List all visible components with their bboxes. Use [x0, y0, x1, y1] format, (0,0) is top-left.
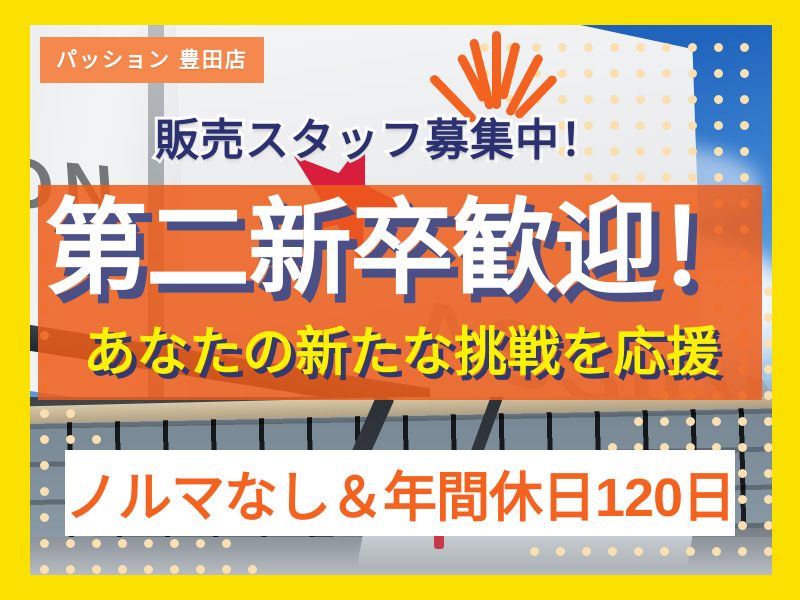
dot — [764, 287, 772, 296]
dot — [738, 469, 747, 478]
dot — [636, 69, 645, 78]
dot — [40, 539, 49, 548]
dot — [738, 521, 747, 530]
dot — [584, 173, 593, 182]
dot — [662, 147, 671, 156]
dot — [118, 539, 127, 548]
dot — [634, 547, 643, 556]
dot — [686, 547, 695, 556]
dot — [40, 565, 49, 574]
dot — [686, 417, 695, 426]
dot — [764, 521, 772, 530]
dot — [92, 565, 101, 574]
dot — [688, 147, 697, 156]
dot — [764, 547, 772, 556]
dot — [740, 43, 749, 52]
dot — [610, 121, 619, 130]
dot — [662, 43, 671, 52]
dot — [610, 43, 619, 52]
dot — [764, 313, 772, 322]
recruitment-kicker: 販売スタッフ募集中！ — [155, 104, 605, 168]
dot — [738, 443, 747, 452]
dot — [118, 565, 127, 574]
dot — [530, 547, 539, 556]
dot — [636, 147, 645, 156]
dot — [40, 461, 49, 470]
dot — [582, 547, 591, 556]
dot — [636, 95, 645, 104]
dot — [662, 173, 671, 182]
dot — [738, 495, 747, 504]
benefit-box: ノルマなし＆年間休日120日 — [65, 450, 735, 536]
dot — [92, 539, 101, 548]
dot — [662, 95, 671, 104]
dot — [688, 121, 697, 130]
dot — [764, 495, 772, 504]
dot — [688, 95, 697, 104]
dot — [740, 95, 749, 104]
dot — [144, 539, 153, 548]
dot — [170, 539, 179, 548]
dot — [738, 547, 747, 556]
dot — [66, 409, 75, 418]
dot — [738, 417, 747, 426]
dot — [196, 539, 205, 548]
dot — [662, 69, 671, 78]
dot — [740, 147, 749, 156]
dot — [610, 147, 619, 156]
dot — [764, 443, 772, 452]
shop-name-tag: パッション 豊田店 — [40, 37, 264, 83]
dot — [688, 69, 697, 78]
dot — [660, 547, 669, 556]
dot — [714, 121, 723, 130]
headline-subtitle: あなたの新たな挑戦を応援 — [44, 325, 758, 381]
dot — [688, 173, 697, 182]
dot — [66, 539, 75, 548]
dot — [688, 43, 697, 52]
dot — [740, 173, 749, 182]
dot — [714, 95, 723, 104]
dot — [636, 43, 645, 52]
dot — [714, 69, 723, 78]
dot — [248, 565, 257, 574]
dot — [608, 547, 617, 556]
dot — [714, 147, 723, 156]
dot — [764, 339, 772, 348]
dot — [636, 121, 645, 130]
benefit-text: ノルマなし＆年間休日120日 — [65, 453, 735, 532]
dot — [222, 539, 231, 548]
dot — [222, 565, 231, 574]
dot — [556, 547, 565, 556]
dot — [40, 409, 49, 418]
job-ad-poster: ION ASSION パッション 豊田店 販売スタッフ募集中！ 第二新卒歓迎！ … — [0, 0, 800, 600]
dot — [66, 435, 75, 444]
dot — [636, 173, 645, 182]
dot — [660, 417, 669, 426]
dot — [714, 173, 723, 182]
dot — [40, 487, 49, 496]
dot — [40, 435, 49, 444]
dot — [610, 69, 619, 78]
dot — [662, 121, 671, 130]
dot — [610, 173, 619, 182]
dot — [196, 565, 205, 574]
dot — [144, 565, 153, 574]
main-headline: 第二新卒歓迎！ — [44, 196, 758, 302]
dot — [40, 513, 49, 522]
dot — [712, 417, 721, 426]
dot — [764, 417, 772, 426]
dot — [764, 469, 772, 478]
dot — [712, 547, 721, 556]
dot — [92, 435, 101, 444]
dot — [170, 565, 179, 574]
dot — [634, 417, 643, 426]
dot — [610, 95, 619, 104]
dot — [764, 391, 772, 400]
dot — [66, 565, 75, 574]
dot — [740, 121, 749, 130]
dot — [714, 43, 723, 52]
dot — [764, 365, 772, 374]
dot — [740, 69, 749, 78]
